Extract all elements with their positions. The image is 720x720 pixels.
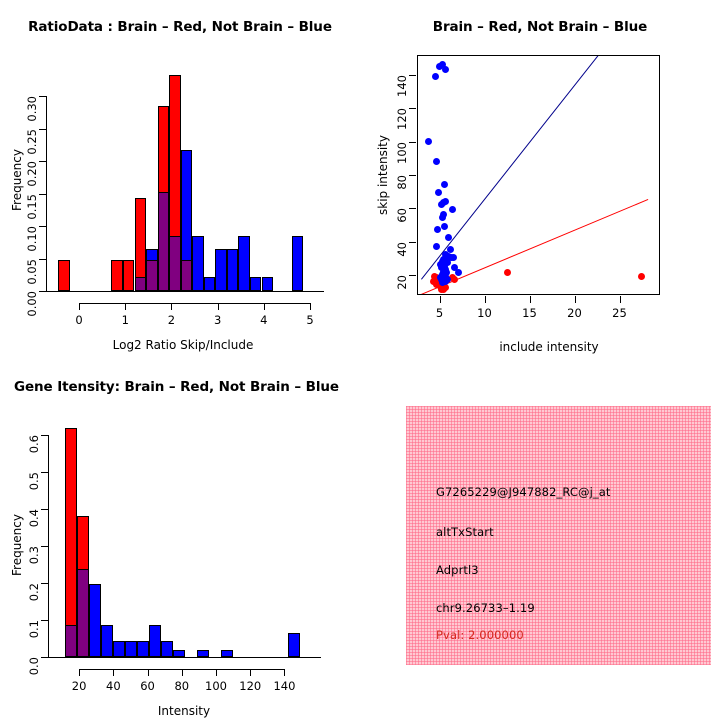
ratio-x-tick — [264, 303, 265, 310]
gene-y-tick-label: 0.6 — [27, 435, 41, 465]
scatter-y-tick — [409, 142, 416, 143]
scatter-x-tick-label: 5 — [420, 306, 460, 320]
ratio-histogram-plot-area: 0.000.050.100.150.200.250.30012345 — [0, 0, 360, 360]
panel-scatter: Brain – Red, Not Brain – Blue 2040608010… — [360, 0, 720, 360]
ratio-x-tick-label: 2 — [151, 313, 191, 327]
info-gene-symbol: Adprtl3 — [436, 563, 479, 577]
figure-canvas: RatioData : Brain – Red, Not Brain – Blu… — [0, 0, 720, 720]
gene-y-tick — [41, 583, 48, 584]
ratio-x-tick — [218, 303, 219, 310]
ratio-y-tick — [39, 96, 46, 97]
gene-y-tick-label: 0.0 — [27, 657, 41, 687]
ratio-histogram-bar — [58, 260, 70, 291]
gene-histogram-bar — [65, 428, 77, 657]
ratio-histogram-bar-overlap — [146, 260, 158, 291]
ratio-x-tick-label: 3 — [198, 313, 238, 327]
gene-y-tick — [41, 509, 48, 510]
ratio-x-tick — [310, 303, 311, 310]
scatter-y-axis-title: skip intensity — [376, 125, 390, 225]
gene-y-axis-line — [48, 435, 49, 657]
ratio-y-tick — [39, 194, 46, 195]
gene-histogram-bar — [197, 650, 209, 657]
scatter-x-tick-label: 10 — [465, 306, 505, 320]
scatter-y-tick — [409, 175, 416, 176]
gene-y-tick — [41, 435, 48, 436]
ratio-y-tick-label: 0.25 — [25, 129, 39, 165]
ratio-histogram-bar — [262, 277, 274, 291]
gene-histogram-bar — [101, 625, 113, 657]
gene-histogram-bar — [173, 650, 185, 657]
gene-histogram-bar — [288, 633, 300, 657]
gene-y-tick — [41, 620, 48, 621]
gene-histogram-bar — [113, 641, 125, 657]
info-probeset-id: G7265229@J947882_RC@j_at — [436, 485, 611, 499]
ratio-y-tick — [39, 291, 46, 292]
scatter-y-tick-label: 80 — [395, 175, 409, 208]
scatter-y-tick-label: 60 — [395, 208, 409, 241]
scatter-y-tick-label: 100 — [395, 142, 409, 175]
scatter-y-tick-label: 140 — [395, 75, 409, 108]
ratio-x-tick — [125, 303, 126, 310]
gene-x-tick — [250, 669, 251, 676]
gene-x-tick — [113, 669, 114, 676]
ratio-histogram-bar-overlap — [158, 192, 170, 291]
scatter-y-tick — [409, 275, 416, 276]
gene-x-tick — [148, 669, 149, 676]
ratio-histogram-bar — [250, 277, 262, 291]
scatter-x-tick — [620, 296, 621, 303]
gene-y-tick — [41, 546, 48, 547]
ratio-y-tick-label: 0.00 — [25, 291, 39, 327]
ratio-histogram-bar-overlap — [169, 236, 181, 291]
ratio-histogram-bar — [204, 277, 216, 291]
gene-x-tick — [79, 669, 80, 676]
ratio-y-tick-label: 0.30 — [25, 96, 39, 132]
gene-y-tick-label: 0.1 — [27, 620, 41, 650]
ratio-histogram-bar-overlap — [181, 260, 193, 291]
ratio-histogram-bar — [123, 260, 135, 291]
info-event-type: altTxStart — [436, 525, 494, 539]
panel-annotation-info: G7265229@J947882_RC@j_at altTxStart Adpr… — [360, 360, 720, 720]
ratio-y-tick-label: 0.20 — [25, 161, 39, 197]
gene-x-tick — [216, 669, 217, 676]
ratio-histogram-bar — [192, 236, 204, 291]
gene-y-tick — [41, 657, 48, 658]
gene-x-tick — [284, 669, 285, 676]
ratio-y-axis-line — [46, 96, 47, 291]
ratio-histogram-y-axis-title: Frequency — [10, 130, 24, 230]
scatter-x-axis-title: include intensity — [449, 340, 649, 354]
ratio-y-tick — [39, 161, 46, 162]
panel-ratio-histogram: RatioData : Brain – Red, Not Brain – Blu… — [0, 0, 360, 360]
ratio-baseline — [46, 291, 324, 292]
gene-histogram-bar-overlap — [65, 625, 77, 657]
scatter-x-tick-label: 25 — [600, 306, 640, 320]
ratio-y-tick — [39, 226, 46, 227]
gene-histogram-bar — [89, 584, 101, 657]
scatter-y-tick-label: 120 — [395, 108, 409, 141]
ratio-x-axis-line — [79, 303, 310, 304]
gene-x-tick — [182, 669, 183, 676]
ratio-histogram-bar — [292, 236, 304, 291]
ratio-y-tick-label: 0.15 — [25, 194, 39, 230]
info-locus: chr9.26733–1.19 — [436, 601, 535, 615]
gene-histogram-bar — [125, 641, 137, 657]
scatter-y-tick — [409, 108, 416, 109]
ratio-histogram-x-axis-title: Log2 Ratio Skip/Include — [83, 338, 283, 352]
gene-x-tick-label: 140 — [262, 679, 306, 693]
scatter-x-tick-label: 15 — [510, 306, 550, 320]
ratio-histogram-bar-overlap — [135, 277, 147, 291]
panel-gene-histogram: Gene Itensity: Brain – Red, Not Brain – … — [0, 360, 360, 720]
scatter-y-tick-label: 40 — [395, 242, 409, 275]
gene-y-tick-label: 0.5 — [27, 472, 41, 502]
ratio-histogram-bar — [227, 249, 239, 291]
info-pval: Pval: 2.000000 — [436, 628, 524, 642]
scatter-x-tick — [440, 296, 441, 303]
gene-y-tick-label: 0.2 — [27, 583, 41, 613]
ratio-y-tick — [39, 129, 46, 130]
scatter-x-tick — [575, 296, 576, 303]
scatter-y-tick — [409, 208, 416, 209]
gene-histogram-bar — [221, 650, 233, 657]
gene-histogram-x-axis-title: Intensity — [84, 704, 284, 718]
scatter-x-tick — [485, 296, 486, 303]
scatter-y-tick-label: 20 — [395, 275, 409, 308]
gene-histogram-plot-area: 0.00.10.20.30.40.50.620406080100120140 — [0, 360, 360, 720]
scatter-axes: 20406080100120140510152025 — [360, 0, 720, 360]
scatter-y-tick — [409, 242, 416, 243]
ratio-x-tick-label: 5 — [290, 313, 330, 327]
gene-histogram-bar — [161, 641, 173, 657]
gene-histogram-bar-overlap — [77, 569, 89, 657]
gene-y-tick — [41, 472, 48, 473]
scatter-y-tick — [409, 75, 416, 76]
ratio-x-tick — [171, 303, 172, 310]
gene-histogram-bar — [149, 625, 161, 657]
ratio-histogram-bar — [215, 249, 227, 291]
ratio-x-tick-label: 4 — [244, 313, 284, 327]
ratio-x-tick — [79, 303, 80, 310]
gene-y-tick-label: 0.3 — [27, 546, 41, 576]
ratio-y-tick-label: 0.10 — [25, 226, 39, 262]
ratio-x-tick-label: 1 — [105, 313, 145, 327]
gene-histogram-y-axis-title: Frequency — [10, 495, 24, 595]
ratio-y-tick-label: 0.05 — [25, 259, 39, 295]
scatter-x-tick — [530, 296, 531, 303]
ratio-histogram-bar — [111, 260, 123, 291]
ratio-x-tick-label: 0 — [59, 313, 99, 327]
ratio-histogram-bar — [238, 236, 250, 291]
gene-histogram-bar — [137, 641, 149, 657]
ratio-y-tick — [39, 259, 46, 260]
scatter-x-tick-label: 20 — [555, 306, 595, 320]
gene-y-tick-label: 0.4 — [27, 509, 41, 539]
gene-baseline — [48, 657, 321, 658]
